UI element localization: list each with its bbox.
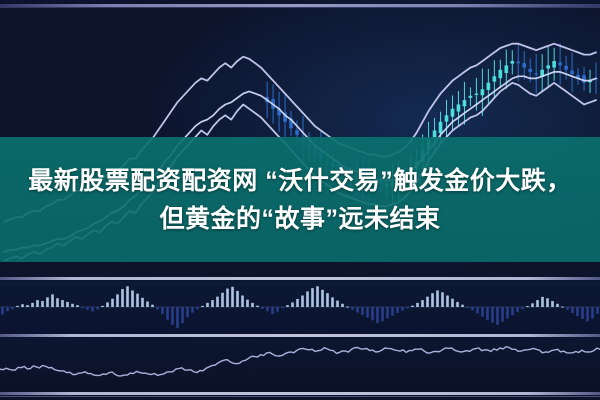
top-highlight-rule-thin [0, 7, 600, 8]
title-overlay-band [0, 137, 600, 262]
panel-separator-3 [0, 392, 600, 395]
chart-screenshot: 最新股票配资配资网 “沃什交易”触发金价大跌， 但黄金的“故事”远未结束 [0, 0, 600, 400]
macd-chart-svg [0, 281, 600, 333]
panel-separator-3-thin [0, 396, 600, 397]
oscillator-chart-svg [0, 338, 600, 393]
panel-separator-2 [0, 334, 600, 337]
oscillator-panel [0, 338, 600, 393]
panel-separator-1 [0, 277, 600, 280]
macd-histogram-panel [0, 281, 600, 333]
